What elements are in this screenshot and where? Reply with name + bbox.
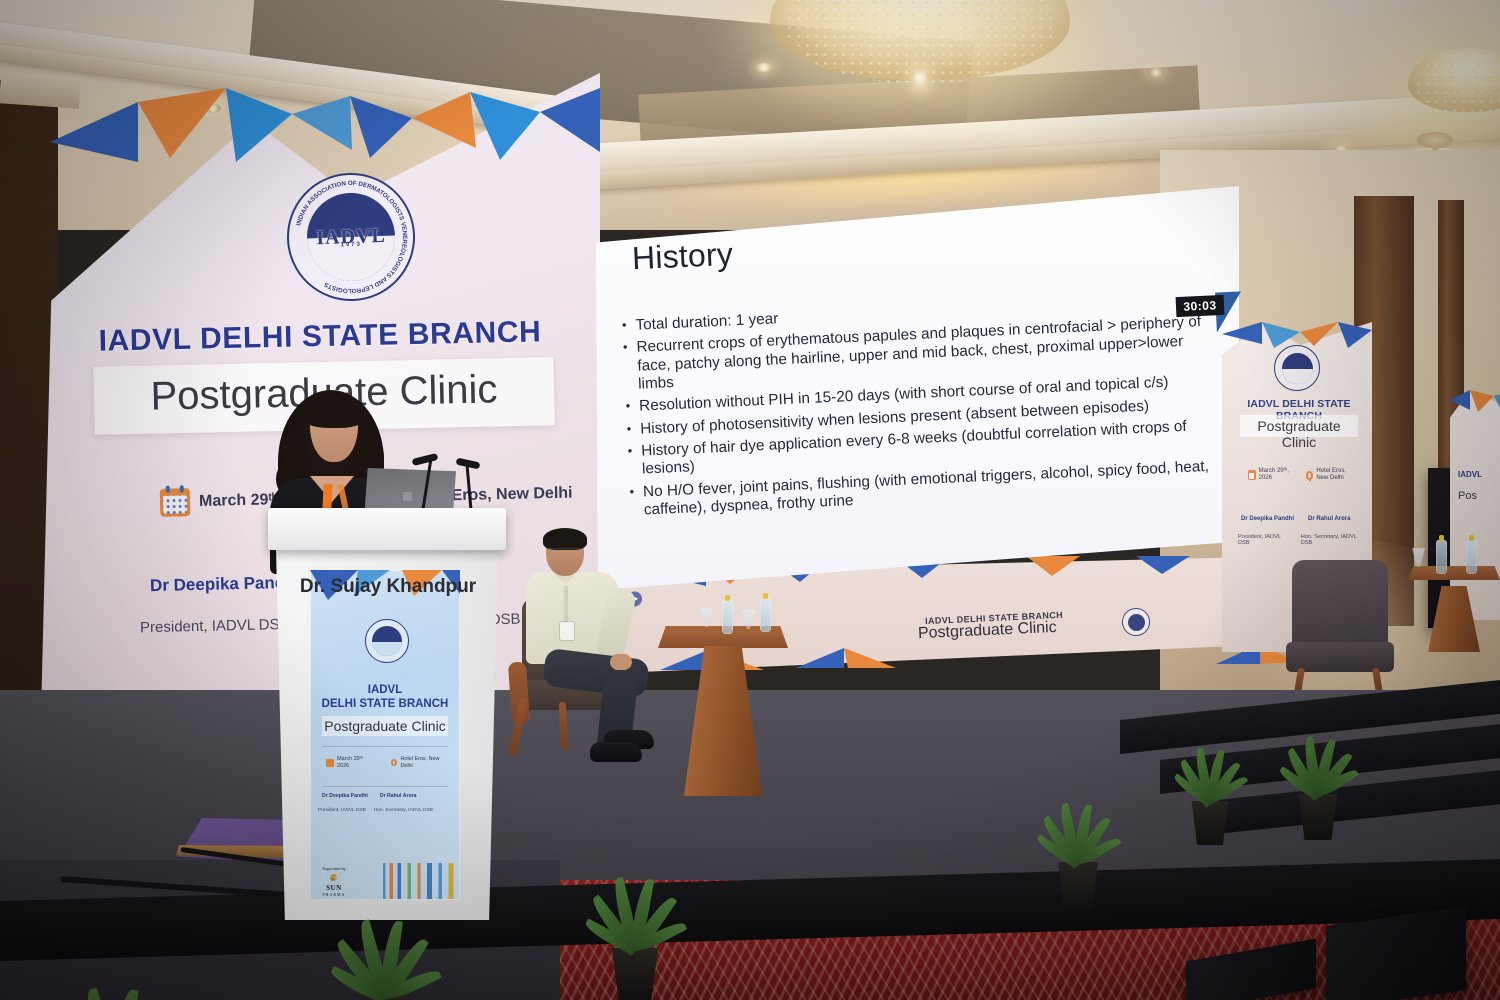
podium-name-left: Dr Deepika Pandhi [322,793,368,799]
podium-role-left: President, IADVL DSB [318,808,366,813]
bullet-marker: • [626,421,631,440]
podium-role-right: Hon. Secretary, IADVL DSB [374,808,433,813]
podium-org-line2: DELHI STATE BRANCH [312,697,458,711]
far-right-geo-svg [1450,390,1500,420]
podium-iadvl-seal-icon [365,619,409,663]
plant-pot [606,948,664,1000]
water-bottle [760,598,771,632]
bullet-marker: • [625,398,630,417]
potted-plant [1150,715,1270,845]
side-table-right [1408,566,1500,646]
plant-pot [1187,801,1233,845]
location-pin-icon [1306,471,1313,480]
lounge-chair-right [1278,560,1398,680]
podium-venue: Hotel Eros, New Delhi [400,756,448,770]
potted-plant [20,900,210,1000]
location-pin-icon [391,759,398,766]
attendee-hair [543,528,587,550]
iadvl-seal-icon: IADVL 1973 INDIAN ASSOCIATION OF DERMATO… [285,171,417,303]
podium-org-title: IADVL DELHI STATE BRANCH [312,683,458,711]
plant-pot [1294,794,1342,840]
seal-year: 1973 [341,242,363,249]
bullet-marker: • [622,317,627,336]
potted-plant [560,840,710,1000]
side-table-center [658,626,788,796]
right-panel-role-left: President, IADVL DSB [1238,534,1291,546]
far-right-panel-title: IADVL [1458,470,1482,479]
attendee-hand [610,654,632,670]
water-bottle [1466,540,1477,574]
plant-leaf [107,988,139,1000]
slide-bullet-list: • Total duration: 1 year • Recurrent cro… [622,291,1215,525]
potted-plant [1018,770,1138,910]
far-right-panel-geo [1450,390,1500,420]
seated-attendee [518,528,648,778]
table-base [684,646,762,796]
attendee-lanyard [564,586,568,624]
potted-plant [1258,700,1378,840]
conference-hall-photo: IADVL 1973 INDIAN ASSOCIATION OF DERMATO… [0,0,1500,1000]
right-panel-date: March 29ᵗʰ, 2026 [1259,468,1290,482]
right-panel-subtitle: Postgraduate Clinic [1240,418,1358,450]
slide-title: History [631,236,733,277]
right-panel-name-right: Dr Rahul Arora [1308,516,1350,522]
calendar-icon [160,488,191,517]
podium-subtitle: Postgraduate Clinic [322,718,448,734]
bullet-marker: • [629,484,635,521]
attendee-badge [560,622,574,640]
calendar-icon [326,759,334,767]
podium-names: Dr Deepika Pandhi Dr Rahul Arora [322,793,454,799]
calendar-icon [1248,470,1256,480]
right-panel-role-right: Hon. Secretary, IADVL DSB [1301,534,1366,546]
podium-meta: March 29ᵗʰ 2026 Hotel Eros, New Delhi [326,756,448,770]
banner-title: IADVL DELHI STATE BRANCH [50,314,591,359]
podium-divider [322,786,448,787]
right-panel-names: Dr Deepika Pandhi Dr Rahul Arora [1241,516,1363,522]
ceiling-downlight [1148,68,1164,77]
podium-name-right: Dr Rahul Arora [380,793,417,799]
potted-plant [300,880,470,1000]
far-right-panel-subtitle: Pos [1458,490,1477,502]
podium-support-label: Supported by [322,866,346,871]
right-panel-roles: President, IADVL DSB Hon. Secretary, IAD… [1238,534,1366,546]
bullet-marker: • [627,443,633,480]
chandelier-right-lower [1408,48,1500,120]
podium: IADVL DELHI STATE BRANCH Postgraduate Cl… [268,508,506,920]
presentation-timer: 30:03 [1176,295,1225,317]
plant-pot [1053,862,1103,910]
podium-top [268,508,506,550]
plant-leaf [81,987,122,1000]
water-bottle [1436,540,1447,574]
right-panel-venue: Hotel Eros, New Delhi [1316,468,1356,482]
podium-speaker-nameplate: Dr. Sujay Khandpur [274,576,502,598]
right-panel-meta: March 29ᵗʰ, 2026 Hotel Eros, New Delhi [1248,468,1356,482]
stage-wall-iadvl-seal-icon [1122,608,1150,636]
podium-divider [322,746,448,747]
bullet-marker: • [623,339,630,394]
right-panel-iadvl-seal-icon [1274,345,1320,391]
podium-date: March 29ᵗʰ 2026 [337,756,373,770]
chandelier-center [770,0,1070,92]
podium-roles: President, IADVL DSB Hon. Secretary, IAD… [318,808,458,813]
attendee-shoe [590,742,642,762]
slide-content: History • Total duration: 1 year • Recur… [594,186,1239,590]
water-bottle [722,600,733,634]
podium-org-line1: IADVL [312,683,458,697]
glasses-icon [549,548,581,555]
right-panel-name-left: Dr Deepika Pandhi [1241,516,1294,522]
